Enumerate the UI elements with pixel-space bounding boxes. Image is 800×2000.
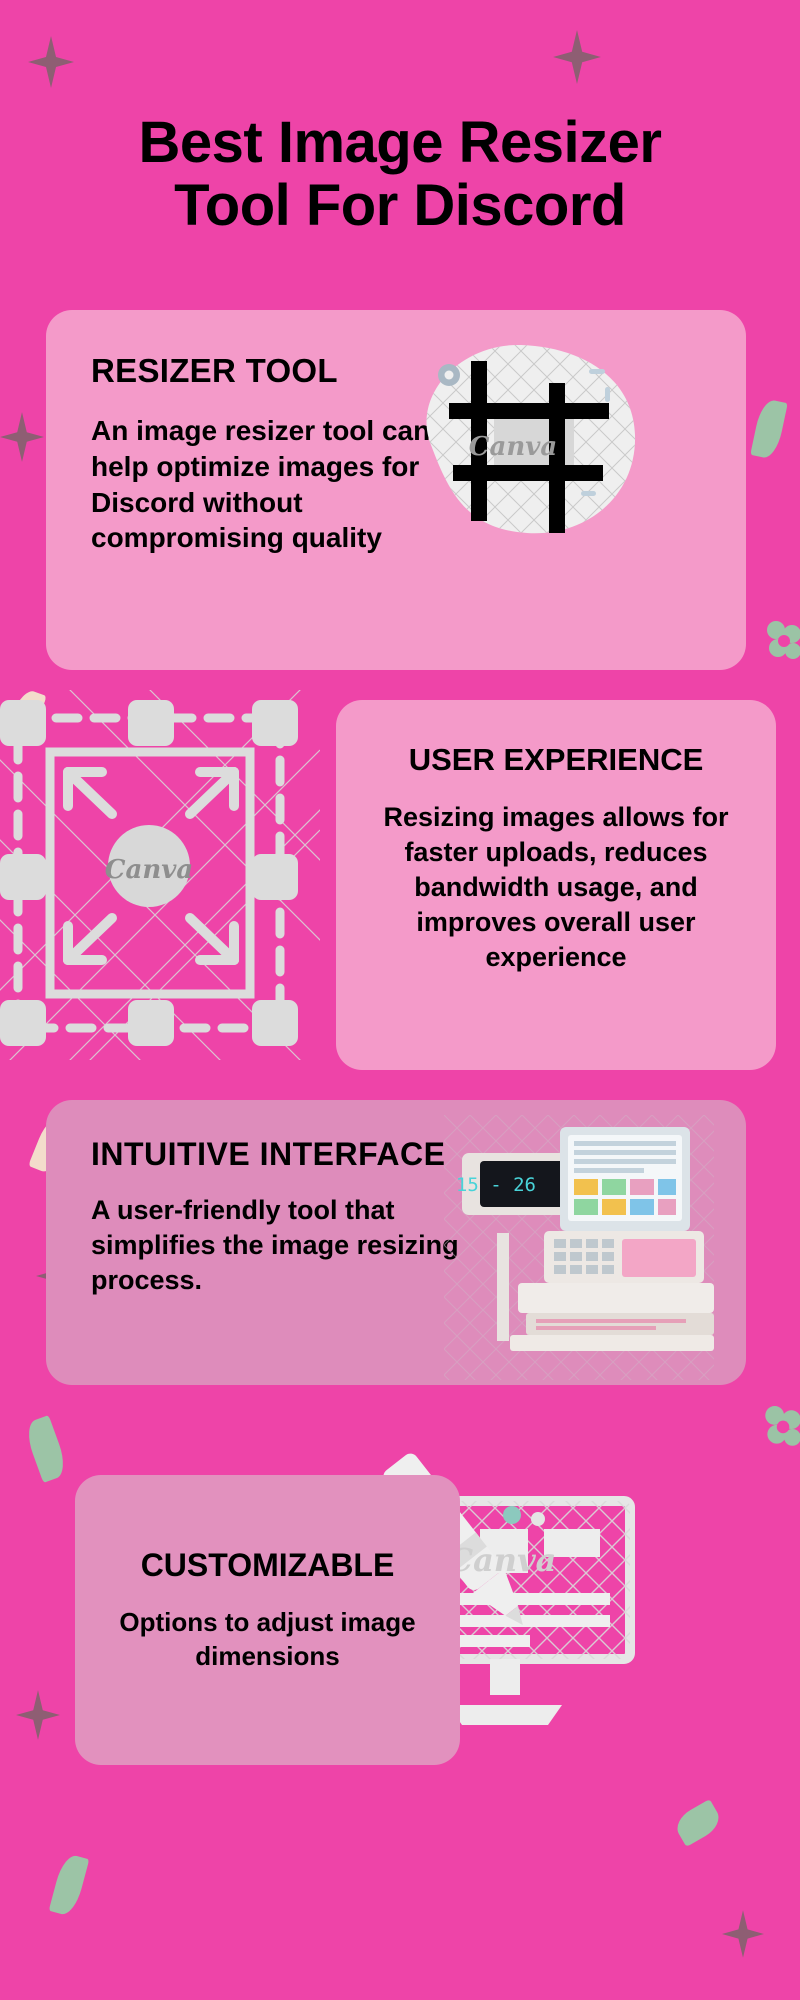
sparkle-icon — [16, 1690, 60, 1740]
crop-tool-icon: Canva — [391, 325, 641, 550]
card-customizable: CUSTOMIZABLE Options to adjust image dim… — [75, 1475, 460, 1765]
canva-watermark: Canva — [105, 855, 193, 885]
leaf-icon — [671, 1799, 724, 1847]
canva-watermark: Canva — [469, 432, 557, 462]
flower-icon — [764, 620, 800, 664]
card-user-experience: USER EXPERIENCE Resizing images allows f… — [336, 700, 776, 1070]
cash-register-icon: 15 - 26 — [444, 1115, 714, 1380]
sparkle-icon — [722, 1910, 764, 1958]
resize-handles-icon: Canva — [0, 690, 320, 1060]
sparkle-icon — [553, 30, 601, 84]
card-intuitive-interface: INTUITIVE INTERFACE A user-friendly tool… — [46, 1100, 746, 1385]
leaf-icon — [750, 398, 787, 460]
leaf-icon — [22, 1415, 70, 1483]
card-resizer-tool: RESIZER TOOL An image resizer tool can h… — [46, 310, 746, 670]
card-body: Resizing images allows for faster upload… — [356, 800, 756, 975]
page-title: Best Image Resizer Tool For Discord — [0, 112, 800, 237]
card-body: Options to adjust image dimensions — [100, 1605, 435, 1674]
page-title-line-2: Tool For Discord — [0, 175, 800, 238]
register-display-value: 15 - 26 — [456, 1174, 536, 1196]
card-body: A user-friendly tool that simplifies the… — [91, 1193, 481, 1298]
card-title: RESIZER TOOL — [91, 352, 338, 390]
sparkle-icon — [0, 412, 44, 462]
card-title: CUSTOMIZABLE — [75, 1547, 460, 1584]
sparkle-icon — [28, 36, 74, 88]
card-title: INTUITIVE INTERFACE — [91, 1136, 445, 1173]
canva-watermark: Canva — [448, 1541, 557, 1579]
flower-icon — [762, 1405, 800, 1451]
leaf-icon — [49, 1853, 90, 1918]
infographic-canvas: Best Image Resizer Tool For Discord RESI… — [0, 0, 800, 2000]
page-title-line-1: Best Image Resizer — [0, 112, 800, 175]
card-title: USER EXPERIENCE — [336, 742, 776, 778]
